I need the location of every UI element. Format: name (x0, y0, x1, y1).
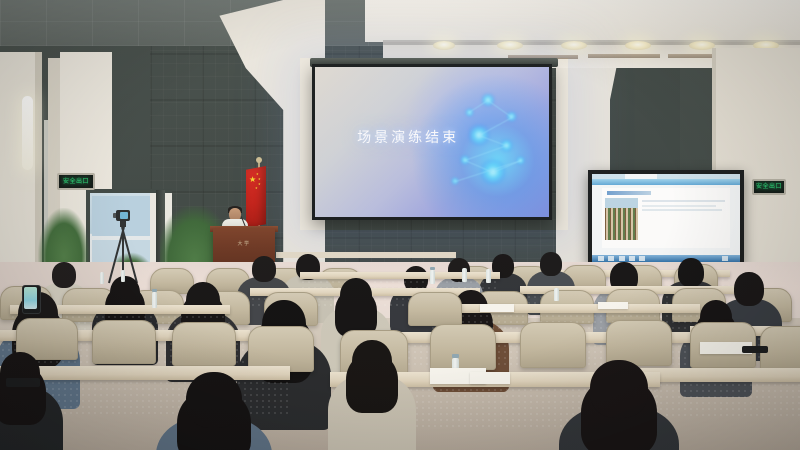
paper-document (480, 304, 514, 312)
water-bottle (152, 292, 157, 308)
conference-hall-photo: 安全出口 安全出口 场景演练结束 (0, 0, 800, 450)
attendee-head (186, 372, 242, 428)
conference-table (300, 272, 500, 279)
attendee-head (340, 278, 372, 314)
water-bottle (430, 270, 435, 284)
conference-table (640, 368, 800, 382)
conference-table (0, 366, 290, 380)
chair[interactable] (172, 322, 236, 366)
attendee-head (734, 272, 764, 306)
attendee-head (0, 352, 40, 396)
water-bottle (554, 288, 559, 301)
water-bottle (462, 268, 467, 282)
smartphone-screen[interactable] (24, 287, 37, 309)
attendee-head (252, 256, 276, 282)
water-bottle (430, 267, 435, 270)
attendee-head (678, 258, 704, 287)
chair[interactable] (92, 320, 156, 364)
chair[interactable] (520, 322, 586, 368)
paper-document (598, 302, 628, 309)
chair[interactable] (408, 292, 462, 326)
conference-table (430, 304, 700, 313)
attendee-head (352, 340, 392, 384)
table-skirt (640, 382, 800, 420)
attendee-head (52, 262, 76, 288)
attendee-head (590, 360, 648, 418)
water-bottle (486, 269, 491, 283)
chair[interactable] (430, 324, 496, 370)
water-bottle (100, 272, 104, 284)
smartphone-on-desk[interactable] (742, 346, 768, 353)
seating-layer (0, 0, 800, 450)
water-bottle (121, 270, 125, 282)
attendee-head (540, 252, 562, 276)
paper-document (470, 372, 510, 384)
water-bottle (152, 289, 157, 292)
water-bottle (452, 354, 459, 358)
smartphone-on-desk[interactable] (6, 378, 40, 387)
